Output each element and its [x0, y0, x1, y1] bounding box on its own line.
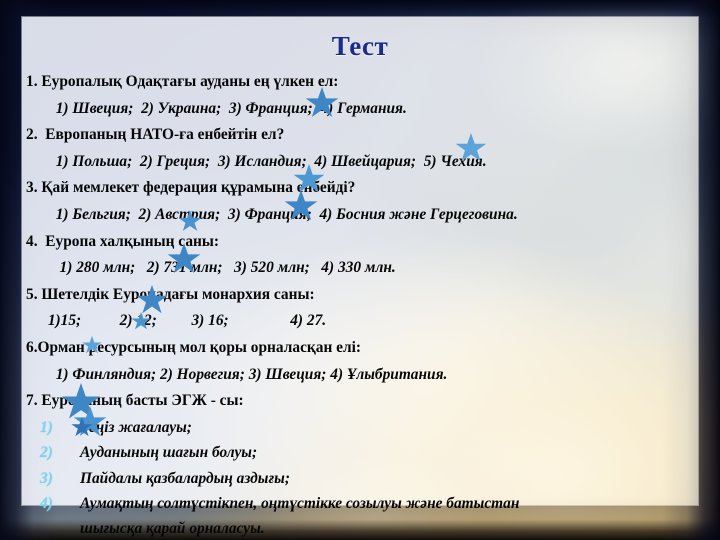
list-item: 2) Ауданының шағын болуы; [22, 440, 698, 465]
option-text-3: Пайдалы қазбалардың аздығы; [80, 466, 290, 491]
question-item-1: 1. Еуропалық Одақтағы ауданы ең үлкен ел… [22, 69, 698, 122]
question-answers-2: 1) Польша; 2) Греция; 3) Исландия; 4) Шв… [22, 149, 698, 176]
question-answers-1: 1) Швеция; 2) Украина; 3) Франция; 4) Ге… [22, 96, 698, 123]
page-title: Тест [22, 31, 698, 62]
question-prompt-6: 6.Орман ресурсының мол қоры орналасқан е… [22, 335, 698, 362]
question-answers-5: 1)15; 2) 12; 3) 16; 4) 27. [22, 308, 698, 335]
list-item: 3) Пайдалы қазбалардың аздығы; [22, 466, 698, 491]
question-answers-6: 1) Финляндия; 2) Норвегия; 3) Швеция; 4)… [22, 362, 698, 389]
question-prompt-4: 4. Еуропа халқының саны: [22, 229, 698, 256]
option-text-4: Аумақтың солтүстікпен, оңтүстікке созылу… [80, 491, 519, 516]
question-item-6: 6.Орман ресурсының мол қоры орналасқан е… [22, 335, 698, 388]
option-marker-3: 3) [22, 466, 80, 491]
option-marker-4: 4) [22, 491, 80, 516]
list-item: 4) Аумақтың солтүстікпен, оңтүстікке соз… [22, 491, 698, 516]
slide-content: Тест 1. Еуропалық Одақтағы ауданы ең үлк… [22, 17, 698, 505]
option-text-4-continuation: шығысқа қарай орналасуы. [22, 516, 698, 540]
list-item: 1) Теңіз жағалауы; [22, 415, 698, 440]
question-item-3: 3. Қай мемлекет федерация құрамына енбей… [22, 175, 698, 228]
question-prompt-7: 7. Еуропаның басты ЭГЖ - сы: [22, 388, 698, 415]
option-marker-2: 2) [22, 440, 80, 465]
option-marker-1: 1) [22, 415, 80, 440]
question-item-2: 2. Европаның НАТО-ға енбейтін ел? 1) Пол… [22, 122, 698, 175]
question-prompt-1: 1. Еуропалық Одақтағы ауданы ең үлкен ел… [22, 69, 698, 96]
question-answers-3: 1) Бельгия; 2) Австрия; 3) Франция; 4) Б… [22, 202, 698, 229]
question-prompt-2: 2. Европаның НАТО-ға енбейтін ел? [22, 122, 698, 149]
question-item-7: 7. Еуропаның басты ЭГЖ - сы: 1) Теңіз жа… [22, 388, 698, 540]
slide-canvas: Тест 1. Еуропалық Одақтағы ауданы ең үлк… [0, 0, 720, 540]
question-item-4: 4. Еуропа халқының саны: 1) 280 млн; 2) … [22, 229, 698, 282]
question-prompt-3: 3. Қай мемлекет федерация құрамына енбей… [22, 175, 698, 202]
question-item-5: 5. Шетелдік Еуропадағы монархия саны: 1)… [22, 282, 698, 335]
question-prompt-5: 5. Шетелдік Еуропадағы монархия саны: [22, 282, 698, 309]
question-list: 1. Еуропалық Одақтағы ауданы ең үлкен ел… [22, 69, 698, 540]
question-answers-4: 1) 280 млн; 2) 731 млн; 3) 520 млн; 4) 3… [22, 255, 698, 282]
option-text-2: Ауданының шағын болуы; [80, 440, 257, 465]
